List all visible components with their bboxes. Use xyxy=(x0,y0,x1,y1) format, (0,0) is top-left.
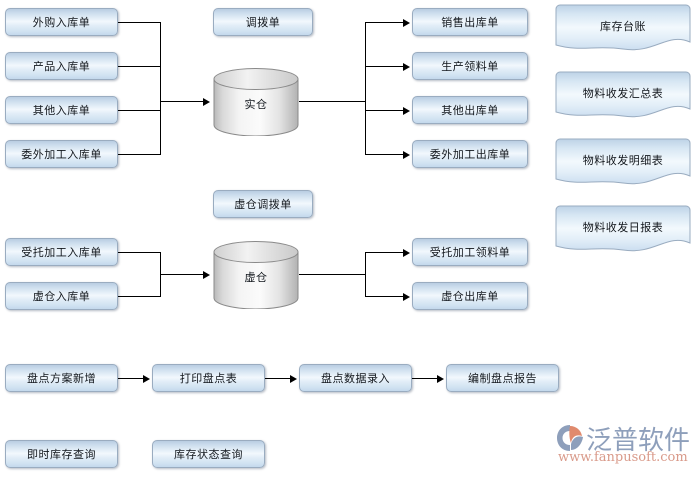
arrow-outbound-4 xyxy=(403,151,410,159)
connector-virtual-inbound-to-store xyxy=(160,274,205,275)
connector-outbound-1 xyxy=(365,22,405,23)
arrow-stocktake-3 xyxy=(437,375,444,383)
node-transfer-order[interactable]: 调拨单 xyxy=(213,8,313,36)
connector-outbound-4 xyxy=(365,154,405,155)
connector-inbound-bus xyxy=(160,22,161,155)
node-label: 生产领料单 xyxy=(441,61,499,72)
arrow-virtual-inbound-to-store xyxy=(203,271,210,279)
connector-virtual-outbound-2 xyxy=(365,296,405,297)
report-label: 物料收发明细表 xyxy=(555,152,691,168)
node-virtual-outbound-entrusted[interactable]: 受托加工领料单 xyxy=(412,238,528,266)
node-label: 库存状态查询 xyxy=(174,449,243,460)
node-label: 委外加工出库单 xyxy=(430,149,511,160)
connector-virtual-outbound-bus xyxy=(365,252,366,297)
arrow-stocktake-1 xyxy=(143,375,150,383)
fanpu-logo-url: www.fanpusoft.com xyxy=(558,450,688,465)
node-label: 调拨单 xyxy=(246,17,281,28)
node-label: 虚仓入库单 xyxy=(33,291,91,302)
node-label: 虚仓调拨单 xyxy=(234,199,292,210)
connector-inbound-to-store xyxy=(160,101,205,102)
node-label: 盘点数据录入 xyxy=(321,373,390,384)
node-virtual-outbound-store[interactable]: 虚仓出库单 xyxy=(412,282,528,310)
connector-stocktake-3 xyxy=(412,378,439,379)
node-label: 虚仓出库单 xyxy=(441,291,499,302)
node-label: 受托加工领料单 xyxy=(430,247,511,258)
arrow-inbound-to-store xyxy=(203,98,210,106)
fanpu-logo-mark-icon xyxy=(556,424,586,452)
connector-inbound-2 xyxy=(118,66,160,67)
node-virtual-inbound-entrusted[interactable]: 受托加工入库单 xyxy=(5,238,118,266)
fanpu-logo[interactable]: 泛普软件 www.fanpusoft.com xyxy=(556,420,692,472)
node-stocktake-report[interactable]: 编制盘点报告 xyxy=(446,364,559,392)
report-label: 物料收发汇总表 xyxy=(555,85,691,101)
node-inbound-other[interactable]: 其他入库单 xyxy=(5,96,118,124)
arrow-virtual-outbound-2 xyxy=(403,293,410,301)
node-label: 产品入库单 xyxy=(33,61,91,72)
node-label: 即时库存查询 xyxy=(27,449,96,460)
report-label: 库存台账 xyxy=(555,18,691,34)
flowchart-canvas: 外购入库单 产品入库单 其他入库单 委外加工入库单 调拨单 xyxy=(0,0,695,479)
connector-inbound-1 xyxy=(118,22,160,23)
connector-virtual-store-to-outbound xyxy=(299,274,365,275)
arrow-virtual-outbound-1 xyxy=(403,249,410,257)
node-outbound-production[interactable]: 生产领料单 xyxy=(412,52,528,80)
node-inbound-product[interactable]: 产品入库单 xyxy=(5,52,118,80)
store-real-warehouse[interactable]: 实仓 xyxy=(213,68,299,136)
report-material-detail[interactable]: 物料收发明细表 xyxy=(555,138,691,188)
store-label: 虚仓 xyxy=(213,269,299,285)
connector-inbound-3 xyxy=(118,110,160,111)
node-outbound-sales[interactable]: 销售出库单 xyxy=(412,8,528,36)
node-label: 编制盘点报告 xyxy=(468,373,537,384)
node-stocktake-print[interactable]: 打印盘点表 xyxy=(152,364,265,392)
arrow-stocktake-2 xyxy=(290,375,297,383)
arrow-outbound-2 xyxy=(403,63,410,71)
node-stocktake-data-entry[interactable]: 盘点数据录入 xyxy=(299,364,412,392)
connector-outbound-2 xyxy=(365,66,405,67)
store-label: 实仓 xyxy=(213,96,299,112)
node-outbound-other[interactable]: 其他出库单 xyxy=(412,96,528,124)
node-label: 受托加工入库单 xyxy=(21,247,102,258)
connector-inbound-4 xyxy=(118,154,160,155)
node-label: 其他出库单 xyxy=(441,105,499,116)
arrow-outbound-3 xyxy=(403,107,410,115)
report-stock-ledger[interactable]: 库存台账 xyxy=(555,4,691,54)
node-inbound-outsourcing[interactable]: 委外加工入库单 xyxy=(5,140,118,168)
node-query-stock-status[interactable]: 库存状态查询 xyxy=(152,440,265,468)
node-label: 销售出库单 xyxy=(441,17,499,28)
connector-virtual-inbound-2 xyxy=(118,296,160,297)
report-label: 物料收发日报表 xyxy=(555,219,691,235)
report-material-daily[interactable]: 物料收发日报表 xyxy=(555,205,691,255)
arrow-outbound-1 xyxy=(403,19,410,27)
node-label: 打印盘点表 xyxy=(180,373,238,384)
node-query-realtime-stock[interactable]: 即时库存查询 xyxy=(5,440,118,468)
store-virtual-warehouse[interactable]: 虚仓 xyxy=(213,241,299,309)
connector-stocktake-2 xyxy=(265,378,292,379)
node-virtual-transfer-order[interactable]: 虚仓调拨单 xyxy=(213,190,313,218)
node-label: 外购入库单 xyxy=(33,17,91,28)
connector-virtual-inbound-1 xyxy=(118,252,160,253)
node-label: 其他入库单 xyxy=(33,105,91,116)
connector-virtual-outbound-1 xyxy=(365,252,405,253)
node-inbound-purchase[interactable]: 外购入库单 xyxy=(5,8,118,36)
node-virtual-inbound-store[interactable]: 虚仓入库单 xyxy=(5,282,118,310)
node-outbound-outsourcing[interactable]: 委外加工出库单 xyxy=(412,140,528,168)
report-material-summary[interactable]: 物料收发汇总表 xyxy=(555,71,691,121)
node-label: 委外加工入库单 xyxy=(21,149,102,160)
node-stocktake-new-plan[interactable]: 盘点方案新增 xyxy=(5,364,118,392)
connector-stocktake-1 xyxy=(118,378,145,379)
connector-outbound-3 xyxy=(365,110,405,111)
node-label: 盘点方案新增 xyxy=(27,373,96,384)
connector-store-to-outbound xyxy=(299,101,365,102)
connector-outbound-bus xyxy=(365,22,366,155)
